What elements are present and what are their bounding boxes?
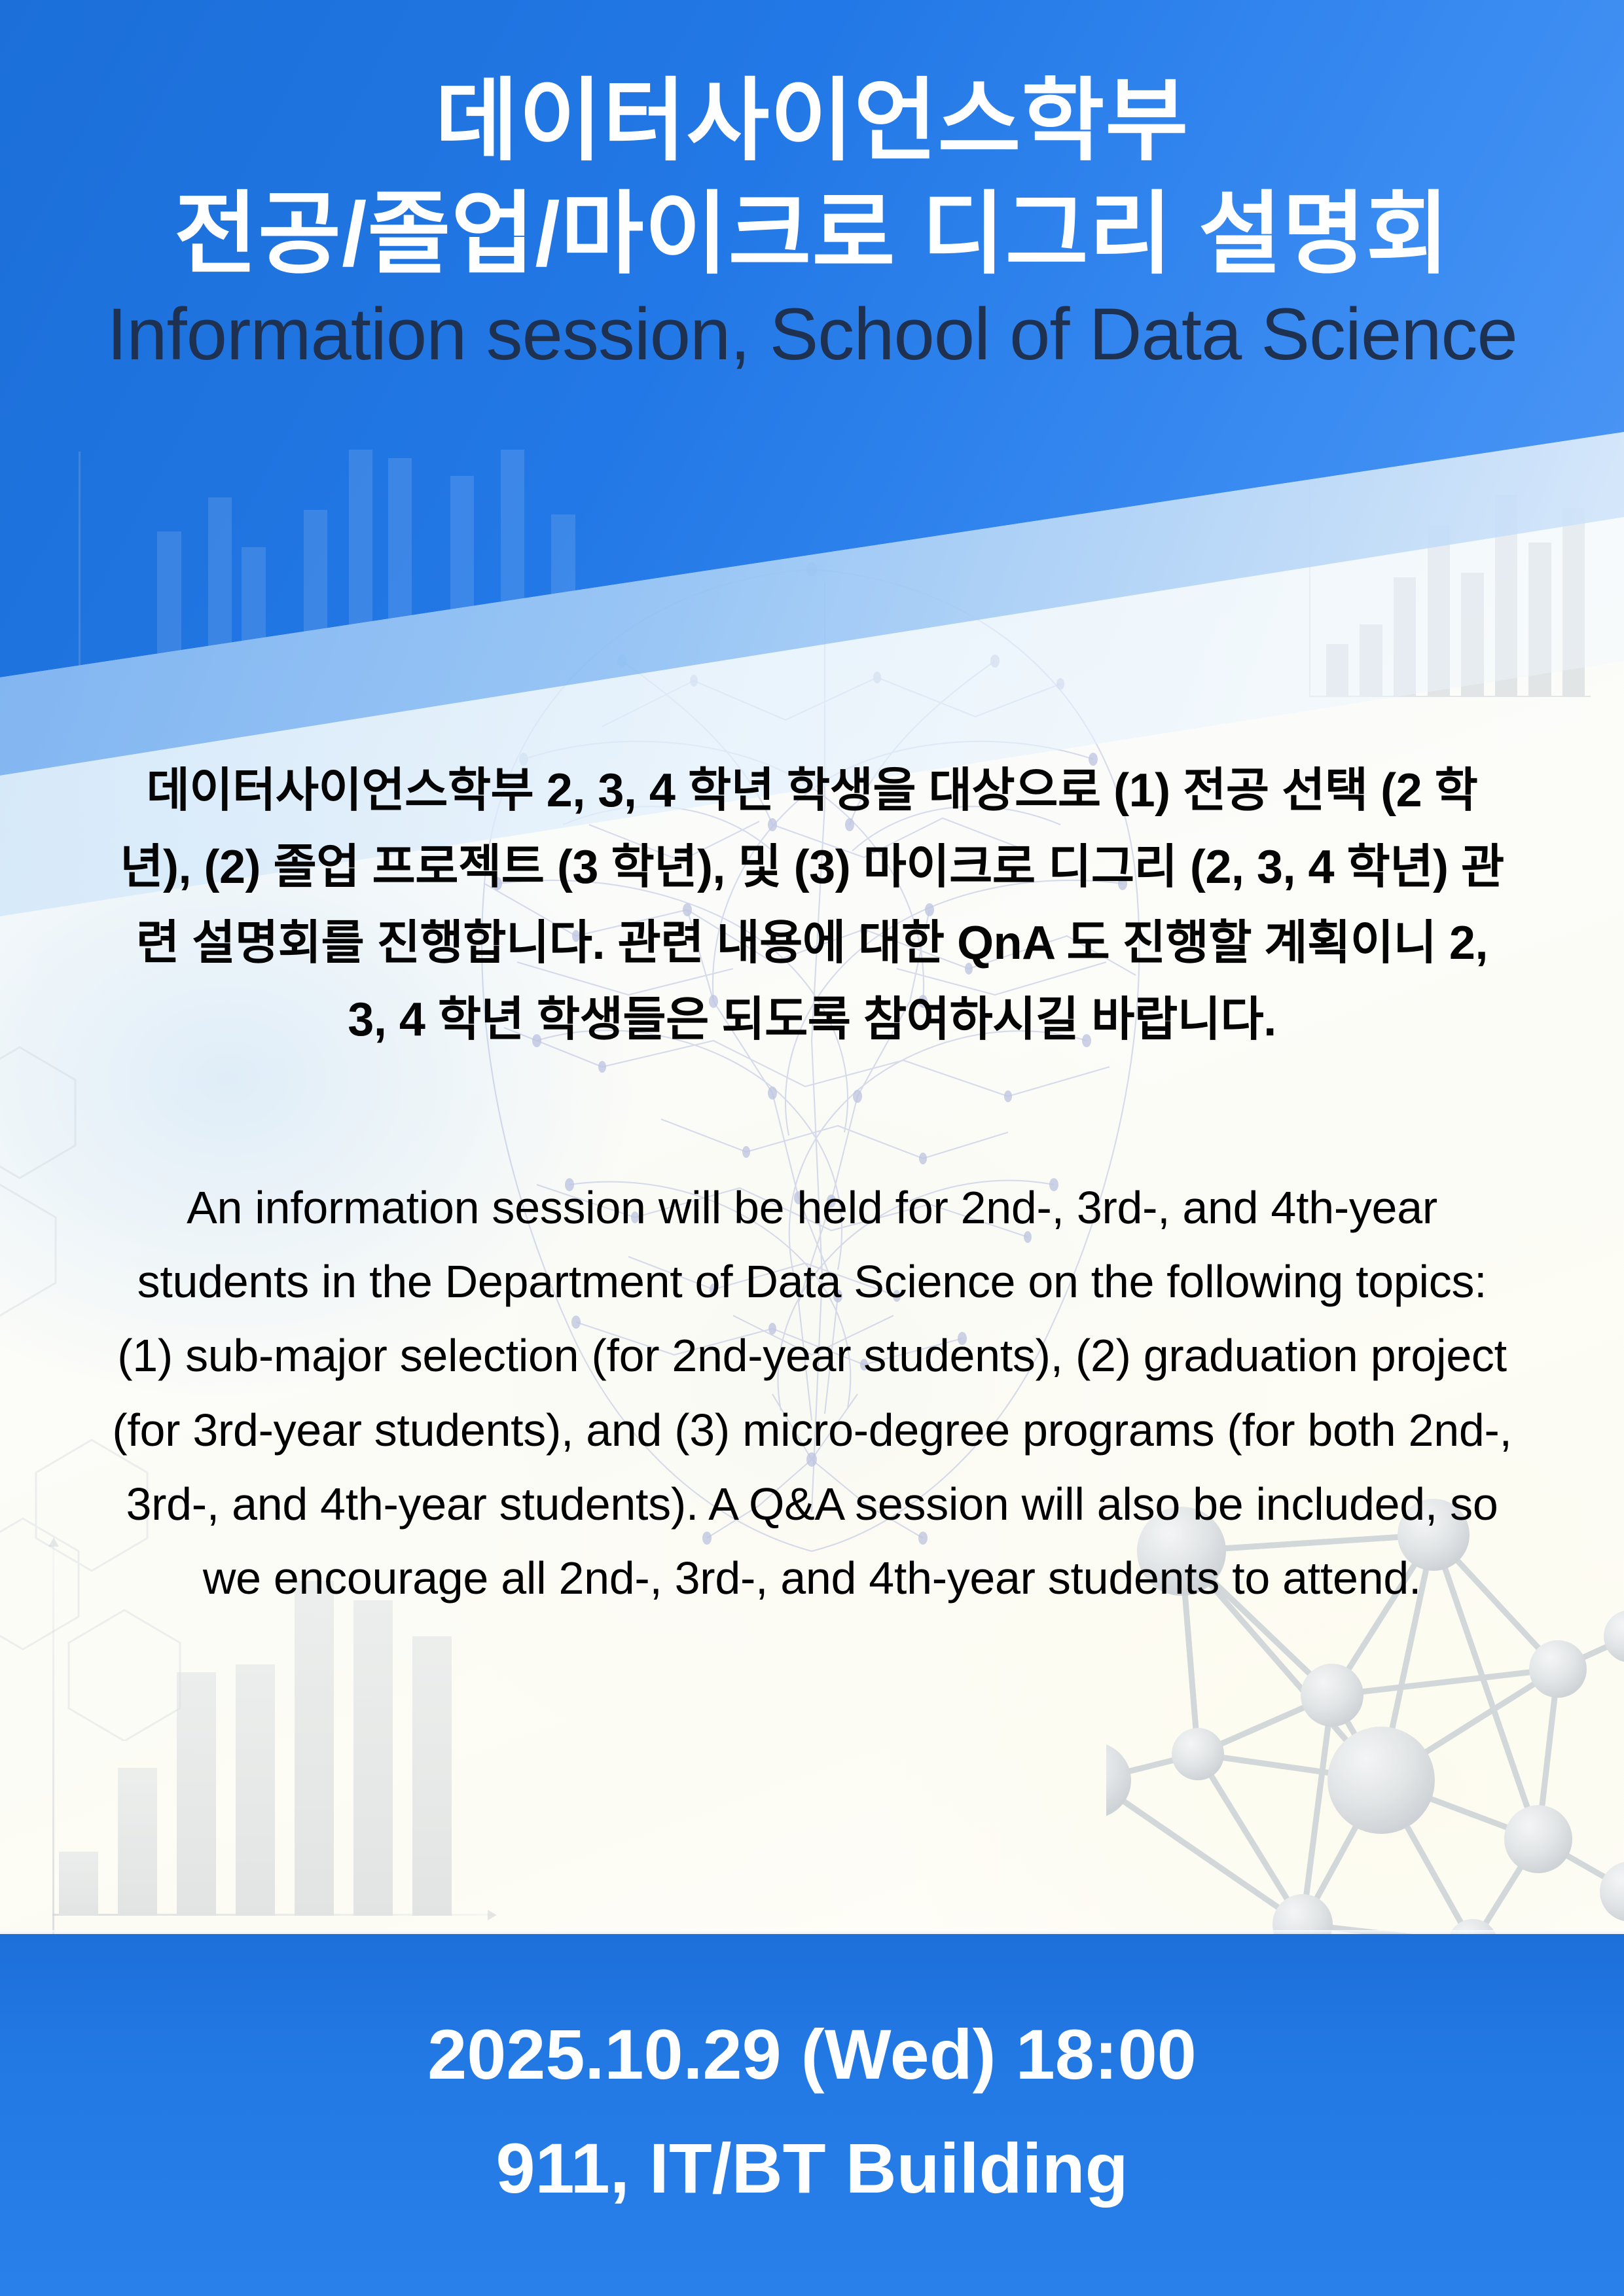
description-english: An information session will be held for …	[111, 1171, 1513, 1616]
page-title-line2: 전공/졸업/마이크로 디그리 설명회	[0, 172, 1624, 285]
poster-body: 데이터사이언스학부 2, 3, 4 학년 학생을 대상으로 (1) 전공 선택 …	[0, 753, 1624, 1616]
event-location: 911, IT/BT Building	[0, 2098, 1624, 2212]
event-date-time: 2025.10.29 (Wed) 18:00	[0, 1934, 1624, 2098]
page-subtitle: Information session, School of Data Scie…	[0, 285, 1624, 374]
poster-header: 데이터사이언스학부 전공/졸업/마이크로 디그리 설명회 Information…	[0, 0, 1624, 497]
poster: 데이터사이언스학부 전공/졸업/마이크로 디그리 설명회 Information…	[0, 0, 1624, 2296]
description-korean: 데이터사이언스학부 2, 3, 4 학년 학생을 대상으로 (1) 전공 선택 …	[111, 753, 1513, 1058]
page-title-line1: 데이터사이언스학부	[0, 0, 1624, 172]
poster-footer: 2025.10.29 (Wed) 18:00 911, IT/BT Buildi…	[0, 1934, 1624, 2296]
